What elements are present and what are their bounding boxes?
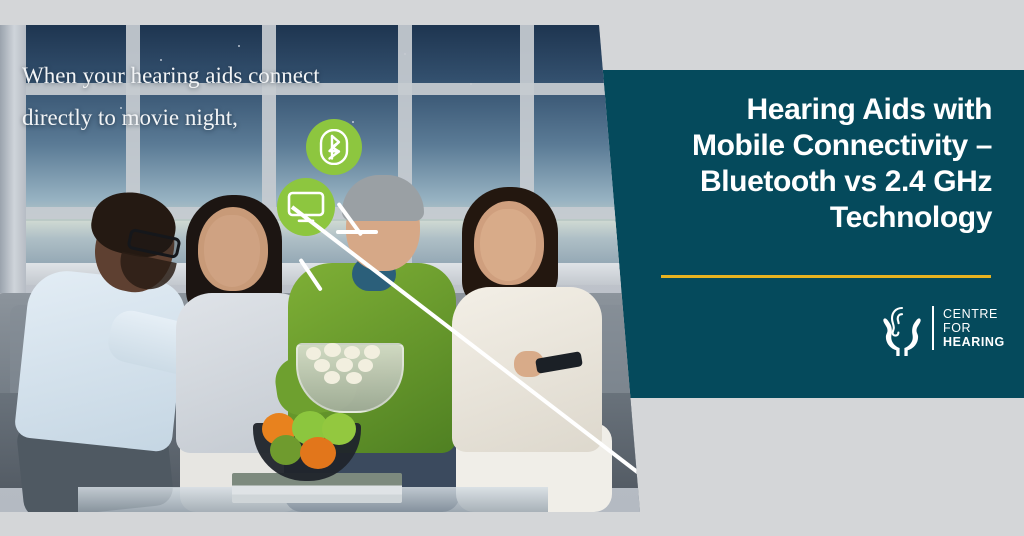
- logo-line-1: CENTRE: [943, 307, 998, 321]
- television-icon: [287, 191, 325, 223]
- hands-cradling-ear-icon: [876, 300, 928, 356]
- title-divider: [661, 275, 991, 278]
- logo-wordmark: CENTRE FOR HEARING: [943, 307, 1005, 349]
- logo-divider: [932, 306, 934, 350]
- brand-logo[interactable]: CENTRE FOR HEARING: [876, 298, 992, 358]
- connector-line: [336, 230, 378, 234]
- photo-caption: When your hearing aids connect directly …: [22, 55, 422, 139]
- logo-line-2: FOR: [943, 321, 971, 335]
- title-block: Hearing Aids with Mobile Connectivity – …: [640, 92, 992, 236]
- banner-canvas: Hearing Aids with Mobile Connectivity – …: [0, 0, 1024, 536]
- page-title: Hearing Aids with Mobile Connectivity – …: [640, 92, 992, 236]
- tv-badge[interactable]: [277, 178, 335, 236]
- logo-line-3: HEARING: [943, 335, 1005, 349]
